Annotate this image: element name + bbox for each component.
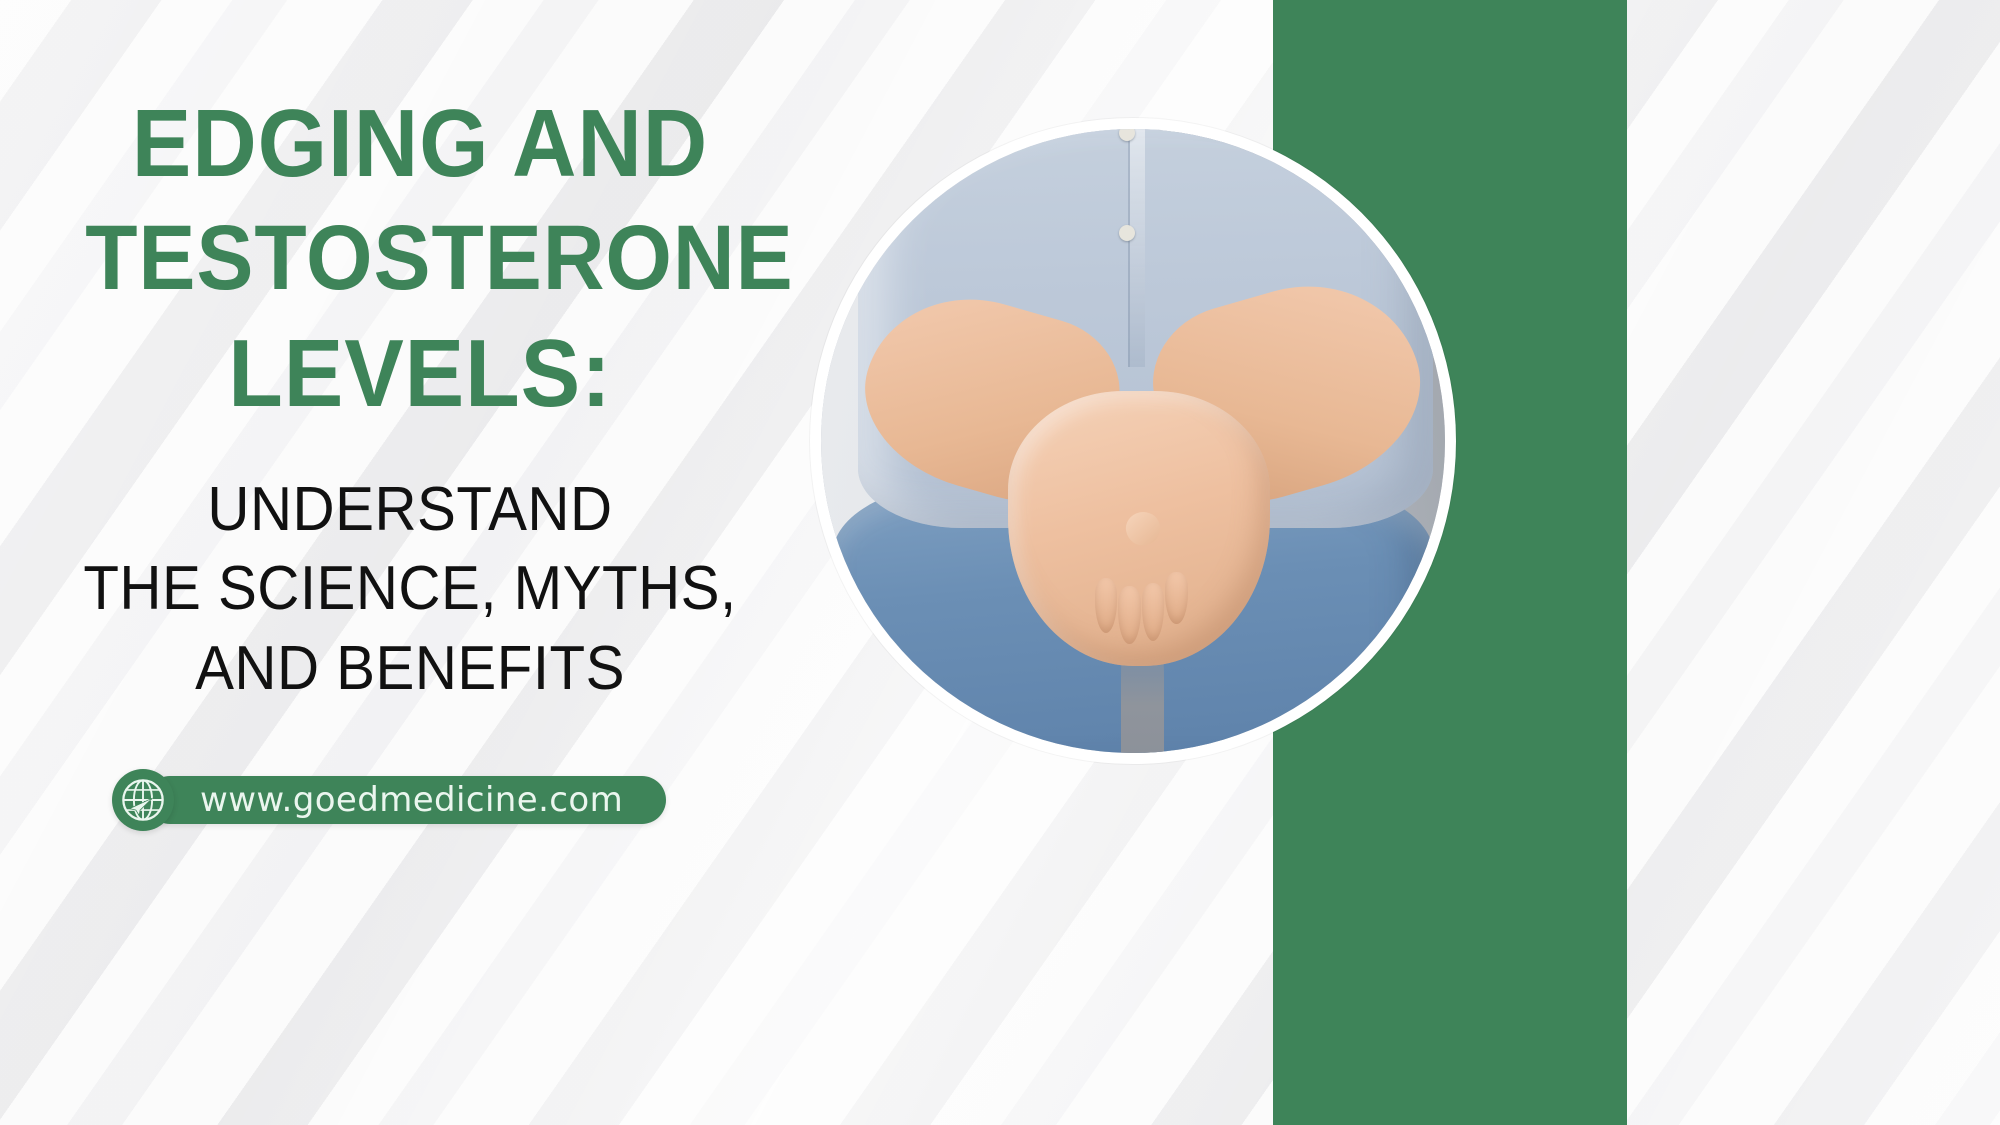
globe-icon [112,769,174,831]
headline-line-1: EDGING AND [85,96,755,191]
photo-finger [1165,572,1187,624]
subtitle-line-2: THE SCIENCE, MYTHS, [62,549,758,628]
banner-canvas: EDGING AND TESTOSTERONE LEVELS: UNDERSTA… [0,0,2000,1125]
headline-line-3: LEVELS: [85,326,755,421]
headline-line-2: TESTOSTERONE [85,213,755,304]
photo-shirt-placket [1128,129,1145,367]
photo-finger [1095,578,1117,633]
photo-finger [1118,586,1140,644]
website-url-text: www.goedmedicine.com [200,780,623,820]
headline: EDGING AND TESTOSTERONE LEVELS: [60,96,780,429]
subtitle: UNDERSTAND THE SCIENCE, MYTHS, AND BENEF… [40,470,780,708]
photo-shirt-button [1119,225,1135,241]
subtitle-line-3: AND BENEFITS [62,629,758,708]
hero-photo-ring [810,118,1456,764]
photo-thumb [1123,509,1163,548]
subtitle-line-1: UNDERSTAND [62,470,758,549]
photo-finger [1142,583,1164,641]
website-url-badge[interactable]: www.goedmedicine.com [112,772,623,828]
hero-photo [821,129,1445,753]
photo-clasped-hands [1008,391,1270,666]
